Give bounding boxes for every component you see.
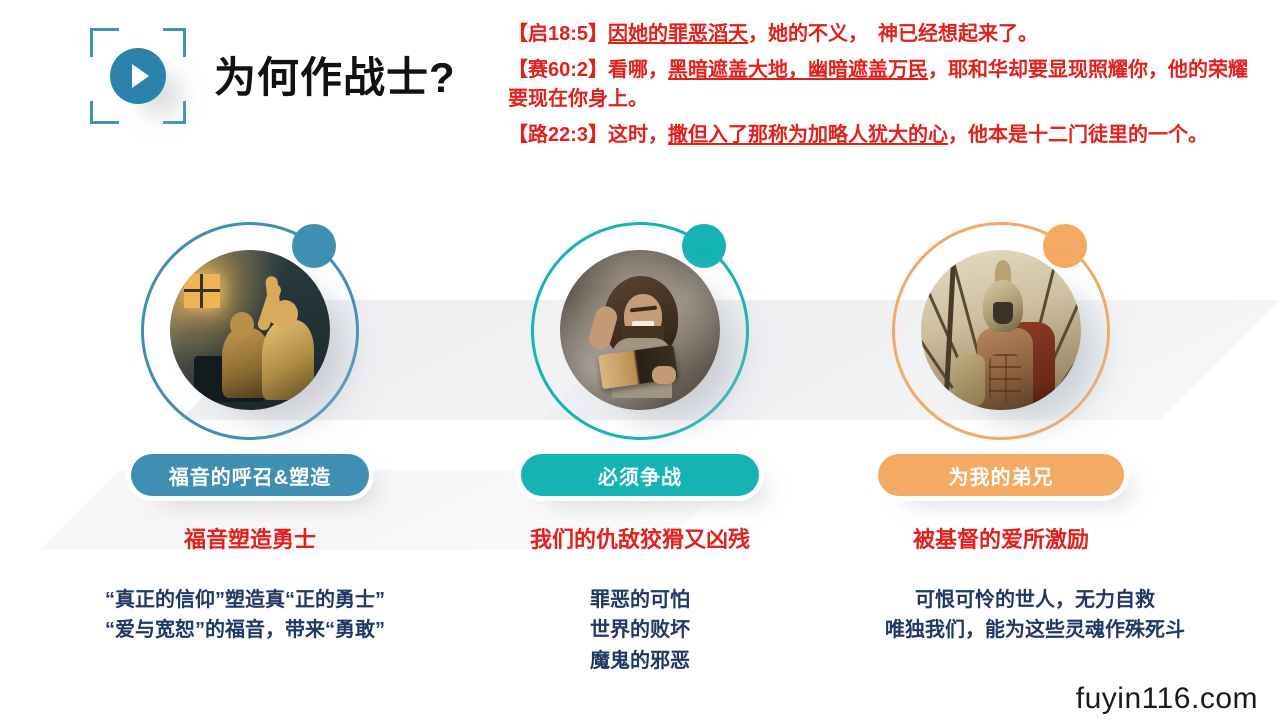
verse-reference: 【启18:5】 [508, 23, 608, 45]
scripture-block: 【启18:5】因她的罪恶滔天，她的不义， 神已经想起来了。 【赛60:2】看哪，… [508, 20, 1250, 158]
verse-reference: 【赛60:2】 [508, 59, 608, 81]
verse-text-underlined: 撒但入了那称为加略人犹大的心 [668, 124, 948, 146]
body-line: “真正的信仰”塑造真“正的勇士” [30, 585, 460, 615]
angry-man-with-book-photo [560, 250, 720, 410]
body-line: 唯独我们，能为这些灵魂作殊死斗 [820, 615, 1250, 645]
page-title: 为何作战士? [214, 44, 456, 105]
body-line: 罪恶的可怕 [500, 585, 780, 615]
slide-canvas: 为何作战士? 【启18:5】因她的罪恶滔天，她的不义， 神已经想起来了。 【赛6… [0, 0, 1280, 720]
body-line: “爱与宽恕”的福音，带来“勇敢” [30, 615, 460, 645]
spartan-warrior-photo [921, 250, 1081, 410]
card-body-text-1: “真正的信仰”塑造真“正的勇士” “爱与宽恕”的福音，带来“勇敢” [30, 585, 460, 646]
card-body-text-3: 可恨可怜的世人，无力自救 唯独我们，能为这些灵魂作殊死斗 [820, 585, 1250, 646]
verse-text-before: 这时， [608, 124, 668, 146]
card-ring-area [475, 222, 805, 454]
scripture-verse: 【启18:5】因她的罪恶滔天，她的不义， 神已经想起来了。 [508, 20, 1250, 48]
play-button-icon [110, 48, 166, 104]
card-red-heading: 我们的仇敌狡猾又凶残 [475, 522, 805, 554]
body-line: 世界的败坏 [500, 615, 780, 645]
verse-text-underlined: 黑暗遮盖大地，幽暗遮盖万民 [668, 59, 928, 81]
card-ring-area [85, 222, 415, 454]
card-red-heading: 福音塑造勇士 [85, 522, 415, 554]
card-pill-text: 为我的弟兄 [949, 461, 1054, 490]
prisoner-praying-photo [170, 250, 330, 410]
verse-text-before: 看哪， [608, 59, 668, 81]
card-must-fight: 必须争战 我们的仇敌狡猾又凶残 [475, 222, 805, 554]
body-line: 魔鬼的邪恶 [500, 646, 780, 676]
body-line: 可恨可怜的世人，无力自救 [820, 585, 1250, 615]
watermark: fuyin116.com [1076, 682, 1258, 716]
verse-text-underlined: 因她的罪恶滔天 [608, 23, 748, 45]
card-gospel-calling: 福音的呼召&塑造 福音塑造勇士 [85, 222, 415, 554]
card-pill-text: 必须争战 [598, 461, 682, 490]
logo [90, 28, 186, 124]
verse-reference: 【路22:3】 [508, 124, 608, 146]
card-body-text-2: 罪恶的可怕 世界的败坏 魔鬼的邪恶 [500, 585, 780, 676]
scripture-verse: 【路22:3】这时，撒但入了那称为加略人犹大的心，他本是十二门徒里的一个。 [508, 121, 1250, 149]
card-ring-area [836, 222, 1166, 454]
card-red-heading: 被基督的爱所激励 [836, 522, 1166, 554]
card-pill-label: 必须争战 [521, 454, 759, 496]
card-pill-label: 为我的弟兄 [878, 454, 1124, 496]
card-pill-text: 福音的呼召&塑造 [169, 461, 331, 490]
card-pill-label: 福音的呼召&塑造 [131, 454, 369, 496]
card-for-my-brothers: 为我的弟兄 被基督的爱所激励 [836, 222, 1166, 554]
verse-text-after: ，他本是十二门徒里的一个。 [948, 124, 1208, 146]
scripture-verse: 【赛60:2】看哪，黑暗遮盖大地，幽暗遮盖万民，耶和华却要显现照耀你，他的荣耀要… [508, 56, 1250, 113]
verse-text-after: ，她的不义， 神已经想起来了。 [748, 23, 1038, 45]
